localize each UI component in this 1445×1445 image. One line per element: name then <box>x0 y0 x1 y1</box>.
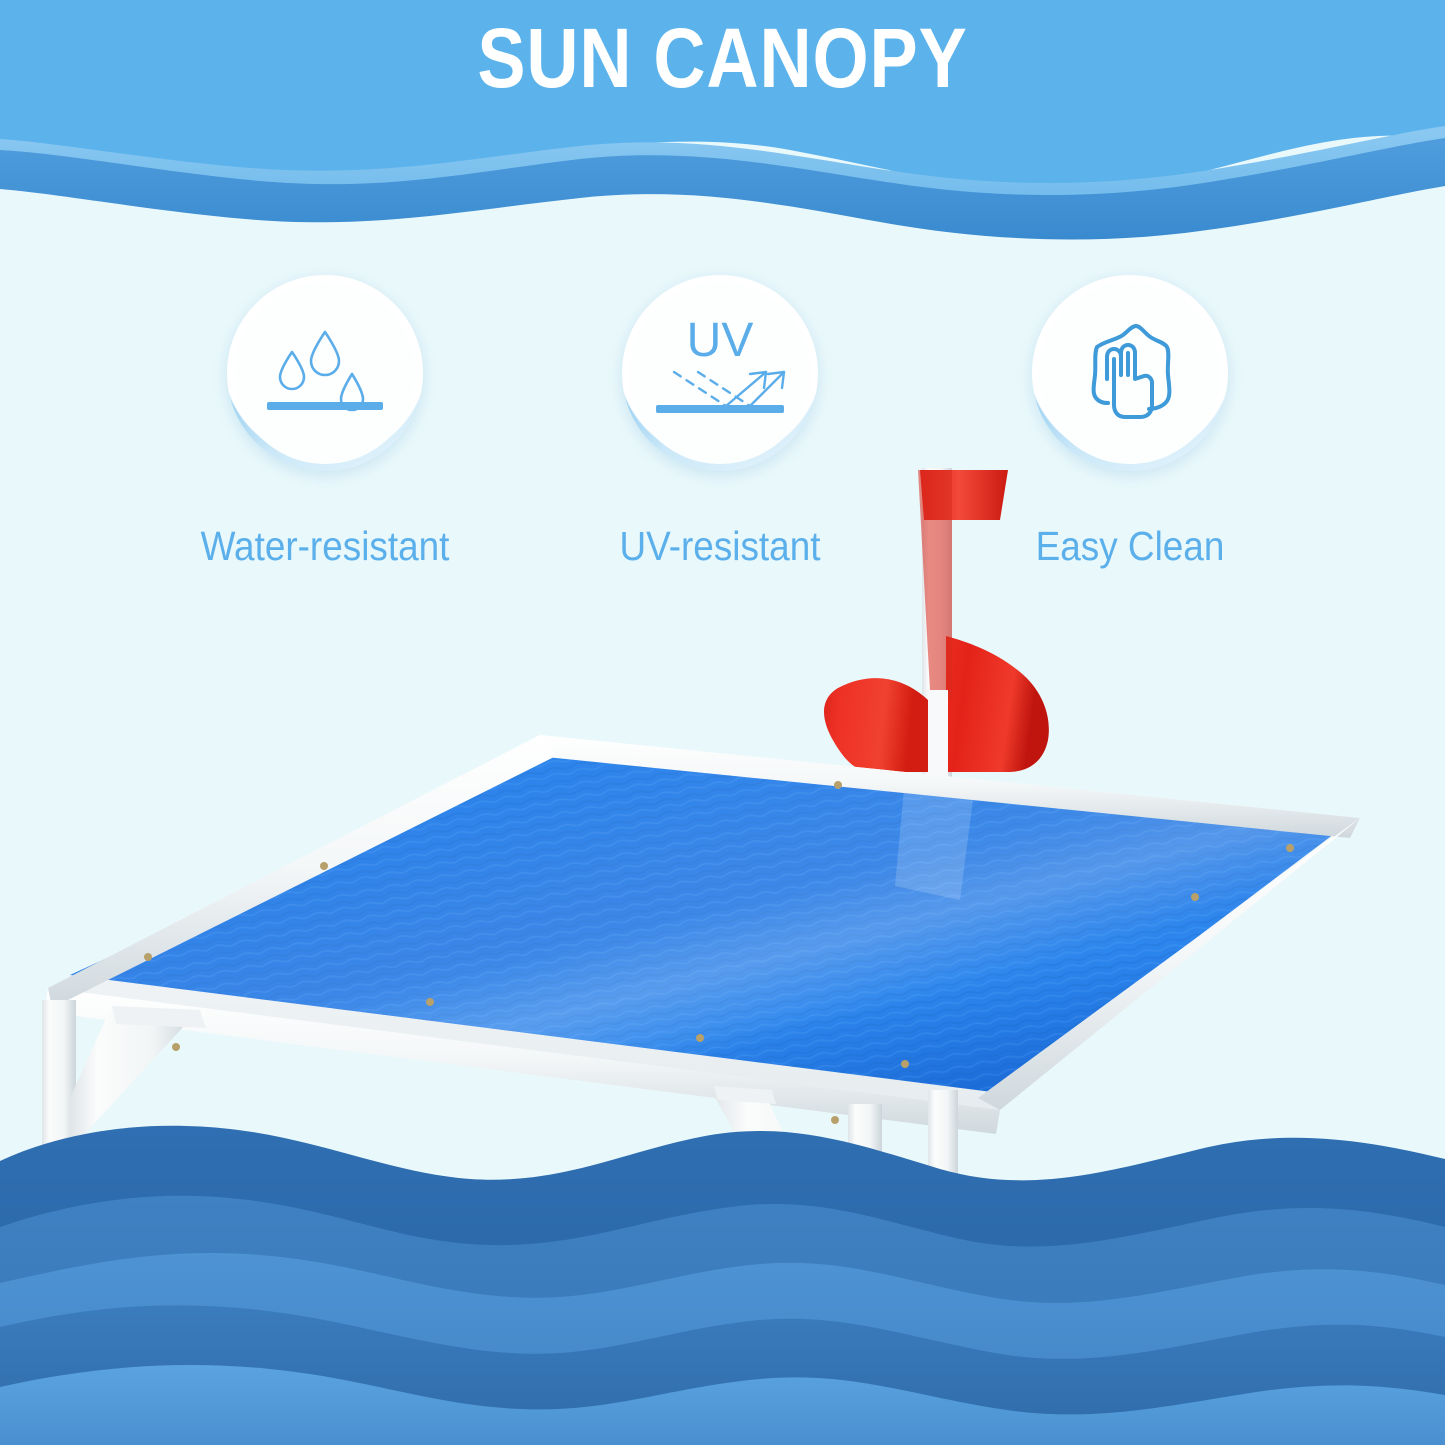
feature-uv-resistant: UV <box>570 275 870 570</box>
feature-label: Easy Clean <box>995 523 1265 570</box>
page-title: SUN CANOPY <box>101 14 1344 102</box>
left-brace-cap <box>112 1006 206 1028</box>
bottom-wave-graphic <box>0 1115 1445 1445</box>
feature-icon-badge <box>227 275 423 471</box>
feature-icon-badge: UV <box>622 275 818 471</box>
canopy-highlight <box>895 778 975 900</box>
feature-easy-clean: Easy Clean <box>980 275 1280 570</box>
canopy-fabric-sheen <box>70 752 1338 1092</box>
water-drop-icon <box>259 314 391 432</box>
canopy-rail-left <box>48 735 556 1008</box>
hand-wipe-icon <box>1070 313 1190 433</box>
canopy-frame <box>48 735 1360 1110</box>
infographic-canvas: SUN CANOPY Water-resistant <box>0 0 1445 1445</box>
canopy-rail-right <box>978 818 1360 1110</box>
uv-reflect-icon: UV <box>652 310 788 436</box>
feature-icon-badge <box>1032 275 1228 471</box>
uv-icon-text: UV <box>687 314 754 367</box>
feature-list: Water-resistant UV <box>0 275 1445 605</box>
canopy-fabric <box>70 752 1338 1092</box>
canopy-rail-back <box>536 735 1360 838</box>
feature-label: UV-resistant <box>585 523 855 570</box>
canopy-rail-front <box>44 988 1000 1134</box>
canopy-roof <box>44 735 1360 1134</box>
center-brace-cap <box>714 1086 776 1104</box>
badge-face: UV <box>629 282 811 464</box>
badge-face <box>1039 282 1221 464</box>
frame-screws <box>144 781 1294 1068</box>
flag-mast-lower <box>928 690 948 780</box>
canopy-fabric-texture <box>70 752 1338 1092</box>
badge-face <box>234 282 416 464</box>
header-banner: SUN CANOPY <box>0 0 1445 245</box>
feature-water-resistant: Water-resistant <box>175 275 475 570</box>
feature-label: Water-resistant <box>190 523 460 570</box>
